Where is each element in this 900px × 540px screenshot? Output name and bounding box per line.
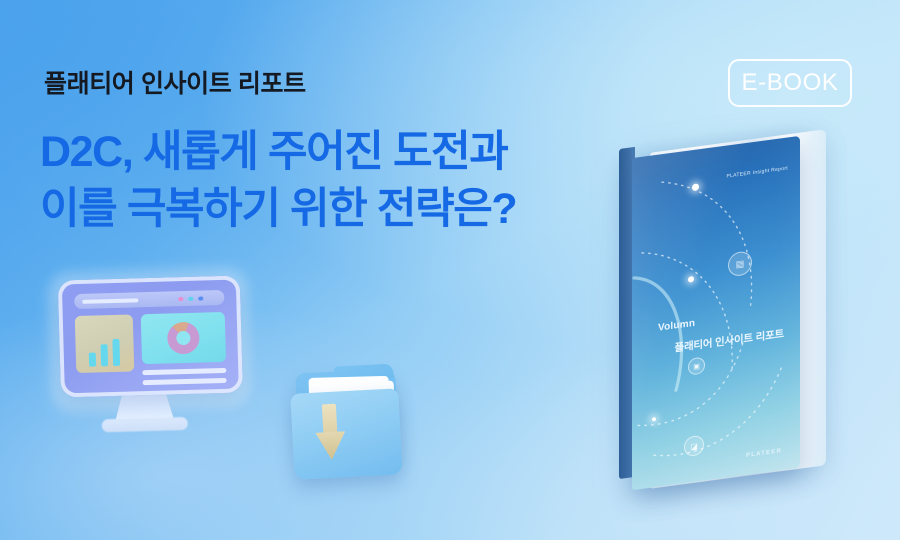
chart-bar — [89, 353, 96, 367]
content-line — [143, 378, 227, 385]
donut-chart-icon — [167, 322, 200, 355]
browser-dot-blue-icon — [198, 296, 203, 301]
ebook-badge-label: E-BOOK — [742, 69, 839, 97]
headline-line-1: D2C, 새롭게 주어진 도전과 — [40, 124, 516, 181]
headline-line-2: 이를 극복하기 위한 전략은? — [40, 181, 516, 238]
download-arrow-icon — [314, 403, 347, 462]
monitor-base — [102, 417, 188, 432]
browser-bar — [74, 290, 224, 309]
chart-bar — [112, 339, 120, 366]
chart-bar — [101, 344, 109, 366]
donut-chart-panel — [141, 312, 226, 364]
arrow-head — [315, 431, 346, 461]
page-title: D2C, 새롭게 주어진 도전과 이를 극복하기 위한 전략은? — [40, 124, 516, 238]
download-folder-illustration — [289, 364, 407, 488]
book-cover: ▤ ▣ ◪ PLATEER Insight Report Volumn 플래티어… — [632, 136, 800, 490]
monitor-body — [58, 275, 243, 397]
url-bar — [82, 298, 138, 304]
content-line — [142, 368, 226, 375]
eyebrow-text: 플래티어 인사이트 리포트 — [44, 64, 306, 100]
dashboard-monitor-illustration — [58, 276, 243, 446]
cover-orbit-graphics — [632, 136, 800, 490]
arrow-stem — [322, 404, 338, 437]
ebook-cover-illustration: ▤ ▣ ◪ PLATEER Insight Report Volumn 플래티어… — [612, 133, 826, 483]
monitor-screen — [68, 286, 233, 387]
ebook-promo-banner: 플래티어 인사이트 리포트 D2C, 새롭게 주어진 도전과 이를 극복하기 위… — [0, 0, 900, 540]
browser-dot-pink-icon — [178, 297, 183, 302]
browser-dot-cyan-icon — [188, 296, 193, 301]
bar-chart-panel — [75, 314, 135, 373]
folder-front — [290, 388, 402, 480]
ebook-badge: E-BOOK — [728, 59, 852, 107]
